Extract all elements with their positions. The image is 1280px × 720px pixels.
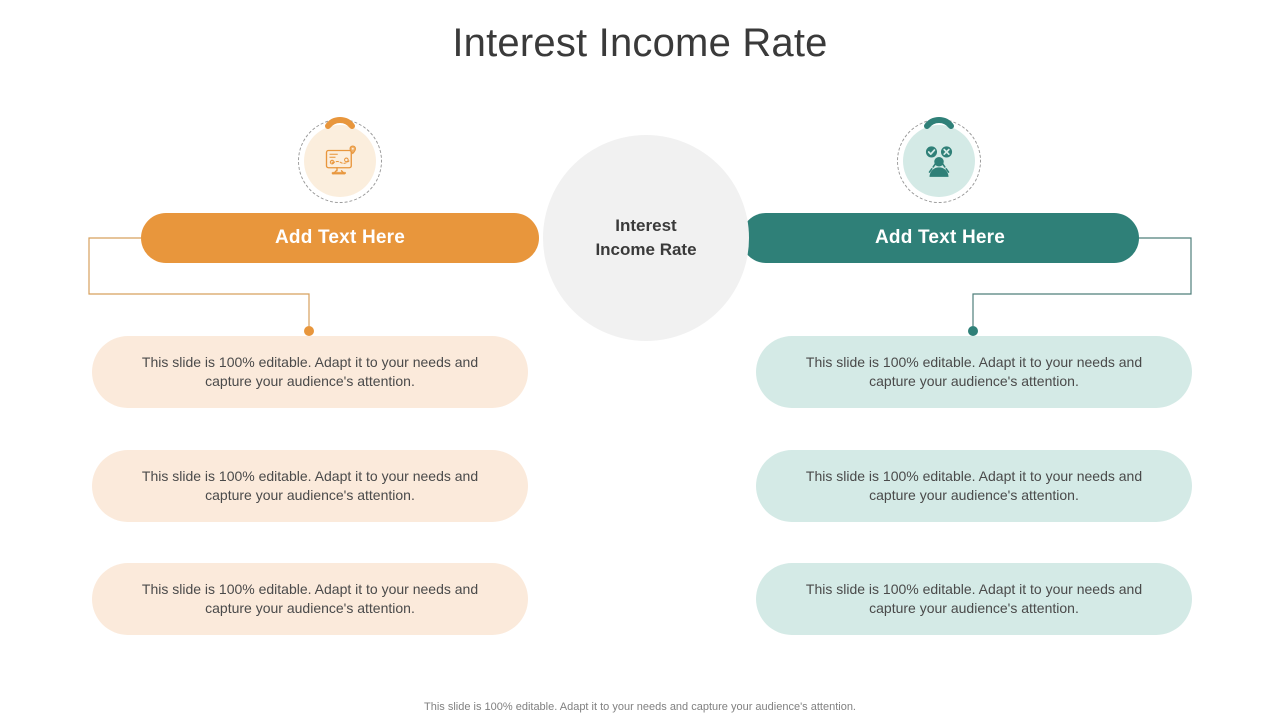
branch-left-card-2[interactable]: This slide is 100% editable. Adapt it to…: [92, 450, 528, 522]
footer-note: This slide is 100% editable. Adapt it to…: [0, 701, 1280, 713]
slide-canvas: Interest Income Rate: [0, 0, 1280, 720]
page-title: Interest Income Rate: [0, 18, 1280, 68]
branch-right-header-label: Add Text Here: [875, 227, 1005, 249]
branch-left-icon-badge: [298, 119, 382, 203]
card-text: This slide is 100% editable. Adapt it to…: [794, 467, 1154, 505]
branch-left-card-1[interactable]: This slide is 100% editable. Adapt it to…: [92, 336, 528, 408]
branch-right-header-pill[interactable]: Add Text Here: [741, 213, 1139, 263]
card-text: This slide is 100% editable. Adapt it to…: [794, 580, 1154, 618]
branch-left-card-3[interactable]: This slide is 100% editable. Adapt it to…: [92, 563, 528, 635]
branch-left-header-pill[interactable]: Add Text Here: [141, 213, 539, 263]
center-topic-line-1: Interest: [615, 216, 676, 235]
branch-left-header-label: Add Text Here: [275, 227, 405, 249]
branch-right-icon-badge: [897, 119, 981, 203]
card-text: This slide is 100% editable. Adapt it to…: [130, 467, 490, 505]
connector-dot-left: [304, 326, 314, 336]
accent-arc-right: [916, 116, 962, 162]
branch-right-card-3[interactable]: This slide is 100% editable. Adapt it to…: [756, 563, 1192, 635]
branch-right-card-2[interactable]: This slide is 100% editable. Adapt it to…: [756, 450, 1192, 522]
center-topic-line-2: Income Rate: [595, 240, 696, 259]
card-text: This slide is 100% editable. Adapt it to…: [130, 353, 490, 391]
center-topic-label: Interest Income Rate: [595, 214, 696, 262]
accent-arc-left: [317, 116, 363, 162]
card-text: This slide is 100% editable. Adapt it to…: [130, 580, 490, 618]
connector-dot-right: [968, 326, 978, 336]
branch-right-card-1[interactable]: This slide is 100% editable. Adapt it to…: [756, 336, 1192, 408]
card-text: This slide is 100% editable. Adapt it to…: [794, 353, 1154, 391]
center-topic-circle: Interest Income Rate: [543, 135, 749, 341]
